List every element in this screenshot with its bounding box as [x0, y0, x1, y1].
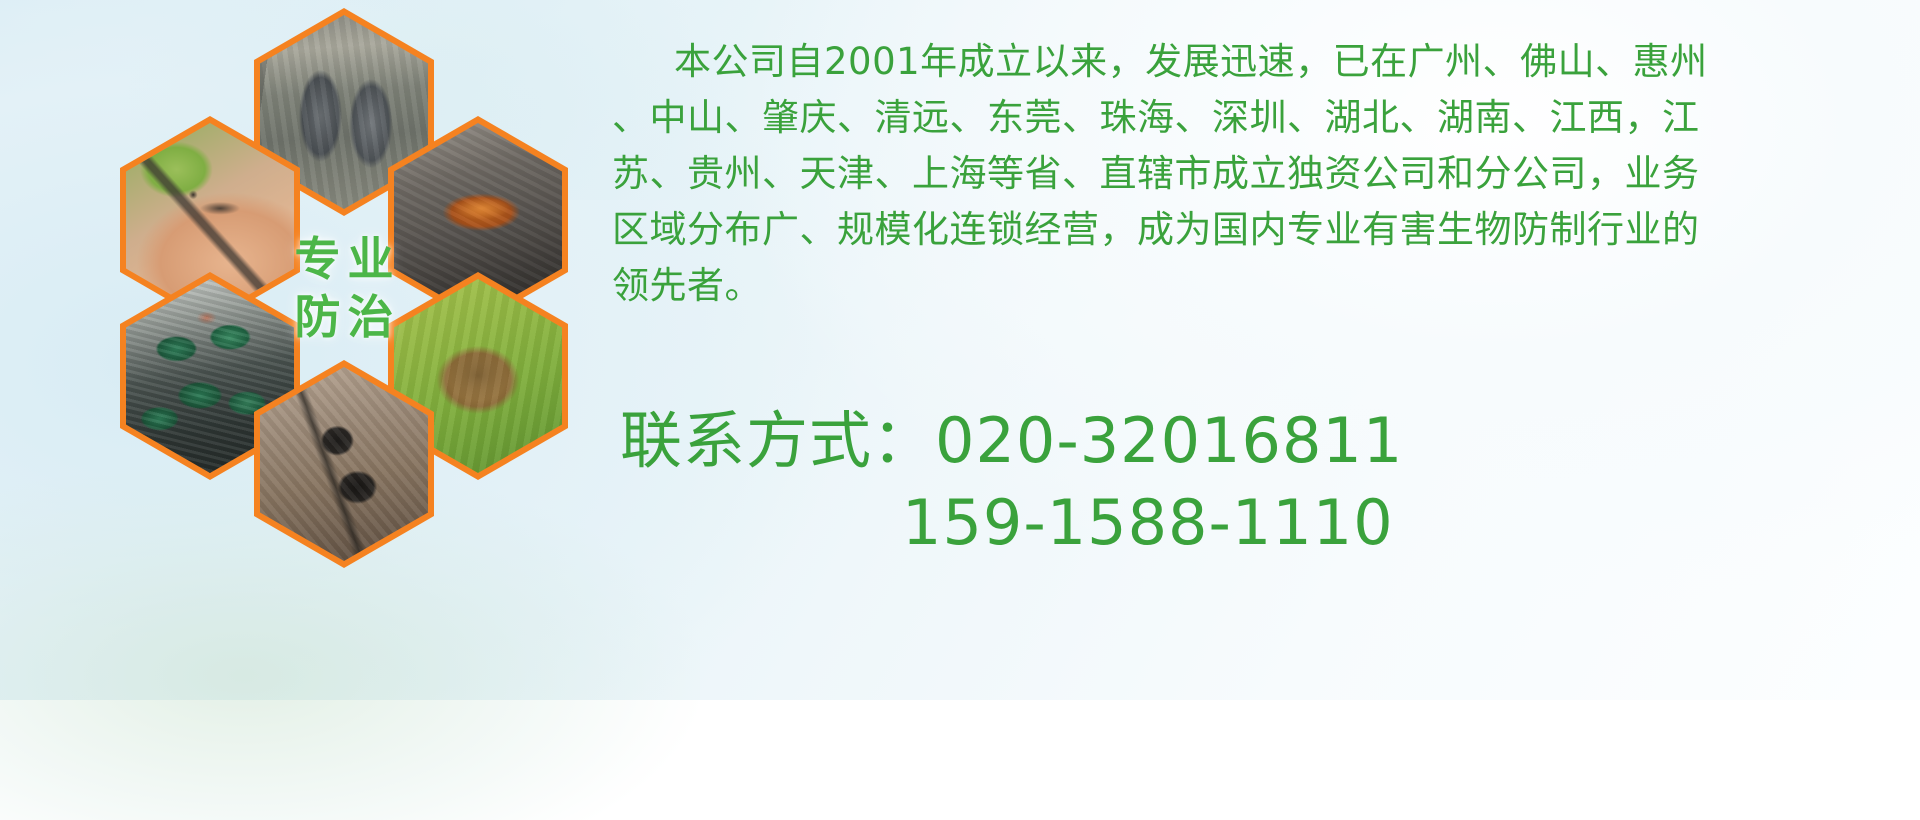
promo-banner: 专业 防治 本公司自2001年成立以来，发展迅速，已在广州、佛山、惠州 、中山、… [0, 0, 1920, 700]
contact-phone-landline[interactable]: 联系方式：020-32016811 [620, 400, 1920, 482]
headline-line-1: 专业 [288, 236, 401, 282]
headline-line-2: 防治 [288, 294, 401, 340]
honeycomb-headline: 专业 防治 [254, 188, 434, 388]
description-line-2: 、中山、肇庆、清远、东莞、珠海、深圳、湖北、湖南、江西，江 [612, 90, 1912, 146]
description-line-3: 苏、贵州、天津、上海等省、直辖市成立独资公司和分公司，业务 [612, 146, 1912, 202]
contact-phone-mobile[interactable]: 159-1588-1110 [620, 482, 1920, 564]
ant-photo [260, 367, 428, 561]
honeycomb-collage: 专业 防治 [96, 8, 596, 568]
description-line-5: 领先者。 [612, 258, 1912, 314]
hex-inner-ant [260, 367, 428, 561]
contact-block: 联系方式：020-32016811 159-1588-1110 [620, 400, 1920, 564]
description-line-4: 区域分布广、规模化连锁经营，成为国内专业有害生物防制行业的 [612, 202, 1912, 258]
company-description: 本公司自2001年成立以来，发展迅速，已在广州、佛山、惠州 、中山、肇庆、清远、… [612, 34, 1912, 314]
description-line-1: 本公司自2001年成立以来，发展迅速，已在广州、佛山、惠州 [612, 34, 1912, 90]
